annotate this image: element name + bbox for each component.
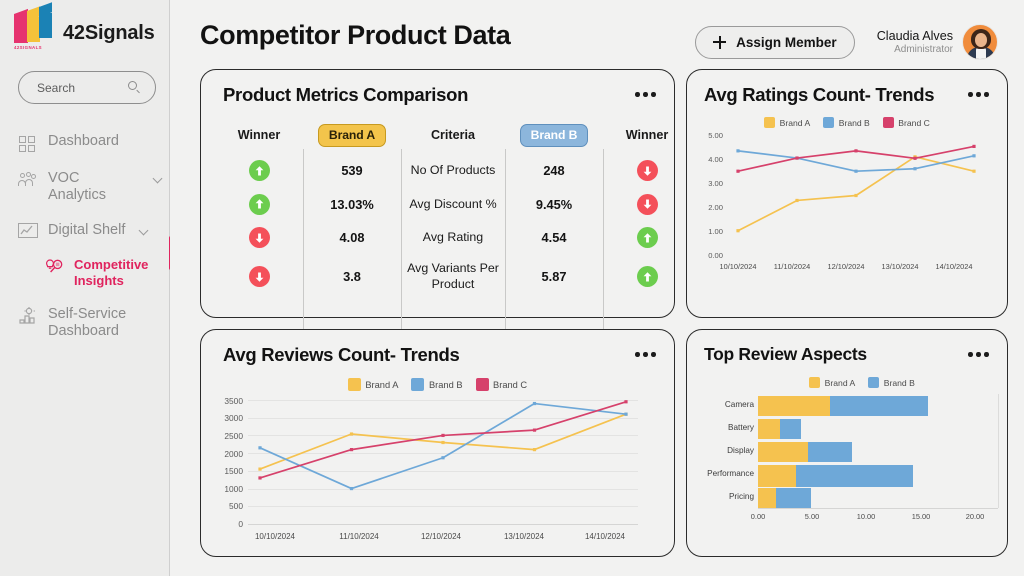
- app-root: 42SIGNALS 42Signals Search Dashboard VOC…: [0, 0, 1024, 576]
- x-tick: 0.00: [737, 512, 779, 521]
- legend-item: Brand A: [348, 378, 399, 391]
- people-icon: [18, 171, 38, 189]
- y-tick: 3000: [215, 413, 243, 423]
- user-name: Claudia Alves: [877, 29, 953, 43]
- more-options-icon[interactable]: [635, 344, 656, 357]
- x-tick: 14/10/2024: [565, 532, 645, 541]
- user-role: Administrator: [877, 44, 953, 55]
- metrics-table-body: 539 No Of Products 248 13.03% Avg Discou…: [215, 154, 660, 299]
- dashboard-grid: Product Metrics Comparison Winner Brand …: [186, 60, 1008, 557]
- category-label: Battery: [697, 423, 754, 432]
- chart-icon: [18, 223, 38, 238]
- dashboard-gear-icon: [18, 307, 38, 325]
- legend-item: Brand B: [411, 378, 462, 391]
- column-header-criteria: Criteria: [401, 128, 505, 142]
- brand-name: 42Signals: [63, 22, 155, 45]
- brand-b-value: 4.54: [505, 230, 603, 245]
- legend-item: Brand B: [868, 377, 915, 388]
- legend-label: Brand B: [884, 378, 915, 388]
- chart-legend-reviews: Brand A Brand B Brand C: [201, 378, 674, 391]
- chevron-down-icon[interactable]: [139, 226, 149, 236]
- y-tick: 2.00: [697, 203, 723, 212]
- user-profile[interactable]: Claudia Alves Administrator: [877, 24, 998, 60]
- brand-b-value: 248: [505, 163, 603, 178]
- category-label: Pricing: [697, 492, 754, 501]
- legend-swatch: [809, 377, 820, 388]
- x-tick: 10/10/2024: [709, 262, 767, 271]
- legend-swatch: [868, 377, 879, 388]
- card-title: Avg Reviews Count- Trends: [223, 344, 459, 366]
- main-content: Competitor Product Data Assign Member Cl…: [170, 0, 1024, 576]
- bar-segment: [796, 465, 912, 487]
- x-tick: 15.00: [900, 512, 942, 521]
- legend-label: Brand C: [493, 380, 527, 390]
- legend-item: Brand A: [764, 117, 810, 128]
- criteria-label: Avg Variants Per Product: [401, 261, 505, 292]
- y-tick: 3500: [215, 396, 243, 406]
- x-tick: 20.00: [954, 512, 996, 521]
- chart-legend-aspects: Brand A Brand B: [687, 377, 1007, 388]
- sidebar-item-label: VOC Analytics: [48, 170, 139, 204]
- winner-down-icon: [637, 160, 658, 181]
- bar-segment: [758, 442, 808, 462]
- legend-item: Brand A: [809, 377, 855, 388]
- card-top-review-aspects: Top Review Aspects Brand A Brand B Camer…: [686, 329, 1008, 557]
- x-tick: 11/10/2024: [763, 262, 821, 271]
- brand-logo[interactable]: 42SIGNALS 42Signals: [0, 0, 169, 55]
- lightbulb-magnifier-icon: [44, 258, 64, 276]
- top-bar-actions: Assign Member Claudia Alves Administrato…: [695, 20, 998, 60]
- column-header-winner-right: Winner: [603, 128, 691, 142]
- bar-segment: [758, 488, 776, 508]
- sidebar-item-label: Digital Shelf: [48, 222, 125, 239]
- table-row: 3.8 Avg Variants Per Product 5.87: [215, 255, 660, 299]
- legend-item: Brand B: [823, 117, 870, 128]
- top-bar: Competitor Product Data Assign Member Cl…: [186, 0, 1008, 60]
- sidebar-item-label: Dashboard: [48, 133, 119, 150]
- chart-plot-reviews: 3500 3000 2500 2000 1500 1000 500 0: [215, 400, 656, 526]
- legend-swatch: [348, 378, 361, 391]
- more-options-icon[interactable]: [635, 84, 656, 97]
- brand-a-value: 4.08: [303, 230, 401, 245]
- sidebar-item-voc-analytics[interactable]: VOC Analytics: [0, 161, 169, 213]
- logo-caption: 42SIGNALS: [14, 45, 42, 50]
- x-tick: 14/10/2024: [925, 262, 983, 271]
- bar-segment: [758, 419, 780, 439]
- y-tick: 5.00: [697, 131, 723, 140]
- x-tick: 12/10/2024: [401, 532, 481, 541]
- criteria-label: Avg Rating: [401, 230, 505, 246]
- search-icon: [128, 81, 141, 94]
- category-label: Camera: [697, 400, 754, 409]
- legend-label: Brand A: [365, 380, 398, 390]
- sidebar-item-dashboard[interactable]: Dashboard: [0, 124, 169, 161]
- bar-segment: [776, 488, 811, 508]
- card-avg-ratings-count-trends: Avg Ratings Count- Trends Brand A Brand …: [686, 69, 1008, 318]
- winner-down-icon: [249, 266, 270, 287]
- search-input[interactable]: Search: [18, 71, 156, 104]
- bar-segment: [830, 396, 928, 416]
- logo-icon: 42SIGNALS: [12, 11, 54, 55]
- x-tick: 11/10/2024: [319, 532, 399, 541]
- winner-up-icon: [637, 227, 658, 248]
- card-avg-reviews-count-trends: Avg Reviews Count- Trends Brand A Brand …: [200, 329, 675, 557]
- sidebar-item-digital-shelf[interactable]: Digital Shelf: [0, 213, 169, 248]
- assign-member-label: Assign Member: [736, 35, 837, 50]
- winner-up-icon: [249, 160, 270, 181]
- legend-swatch: [823, 117, 834, 128]
- plus-icon: [713, 36, 726, 49]
- card-title: Top Review Aspects: [704, 344, 867, 365]
- legend-label: Brand B: [839, 118, 870, 128]
- y-tick: 1000: [215, 484, 243, 494]
- legend-swatch: [476, 378, 489, 391]
- card-title: Avg Ratings Count- Trends: [704, 84, 934, 106]
- search-placeholder: Search: [37, 81, 75, 95]
- y-tick: 1500: [215, 466, 243, 476]
- winner-up-icon: [249, 194, 270, 215]
- sidebar: 42SIGNALS 42Signals Search Dashboard VOC…: [0, 0, 170, 576]
- winner-down-icon: [637, 194, 658, 215]
- criteria-label: Avg Discount %: [401, 197, 505, 213]
- sidebar-item-label: Competitive Insights: [74, 257, 161, 288]
- bar-segment: [758, 465, 796, 487]
- brand-a-value: 3.8: [303, 269, 401, 284]
- sidebar-item-label: Self-Service Dashboard: [48, 306, 161, 340]
- legend-swatch: [883, 117, 894, 128]
- category-label: Display: [697, 446, 754, 455]
- winner-down-icon: [249, 227, 270, 248]
- x-tick: 10/10/2024: [235, 532, 315, 541]
- sidebar-nav: Dashboard VOC Analytics Digital Shelf: [0, 124, 169, 349]
- brand-b-value: 9.45%: [505, 197, 603, 212]
- y-tick: 2500: [215, 431, 243, 441]
- brand-b-badge[interactable]: Brand B: [520, 124, 589, 147]
- brand-a-value: 13.03%: [303, 197, 401, 212]
- chart-legend-ratings: Brand A Brand B Brand C: [687, 117, 1007, 128]
- chart-plot-aspects: Camera Battery Display Performance Prici…: [697, 394, 995, 522]
- legend-label: Brand B: [429, 380, 463, 390]
- x-tick: 12/10/2024: [817, 262, 875, 271]
- x-tick: 13/10/2024: [871, 262, 929, 271]
- y-tick: 1.00: [697, 227, 723, 236]
- chevron-down-icon[interactable]: [153, 174, 163, 184]
- assign-member-button[interactable]: Assign Member: [695, 26, 855, 59]
- x-tick: 5.00: [791, 512, 833, 521]
- bar-segment: [808, 442, 851, 462]
- card-product-metrics-comparison: Product Metrics Comparison Winner Brand …: [200, 69, 675, 318]
- legend-swatch: [764, 117, 775, 128]
- legend-label: Brand A: [825, 378, 856, 388]
- y-tick: 3.00: [697, 179, 723, 188]
- bar-segment: [758, 396, 830, 416]
- legend-label: Brand A: [780, 118, 811, 128]
- y-tick: 4.00: [697, 155, 723, 164]
- x-tick: 10.00: [845, 512, 887, 521]
- y-tick: 0: [215, 519, 243, 529]
- criteria-label: No Of Products: [401, 163, 505, 179]
- category-label: Performance: [697, 469, 754, 478]
- chart-plot-ratings: 5.00 4.00 3.00 2.00 1.00 0.00 10/10/2024…: [697, 136, 993, 266]
- bar-segment: [780, 419, 802, 439]
- brand-a-badge[interactable]: Brand A: [318, 124, 386, 147]
- legend-item: Brand C: [476, 378, 528, 391]
- sidebar-item-self-service-dashboard[interactable]: Self-Service Dashboard: [0, 297, 169, 349]
- sidebar-item-competitive-insights[interactable]: Competitive Insights: [0, 248, 169, 297]
- y-tick: 0.00: [697, 251, 723, 260]
- table-row: 13.03% Avg Discount % 9.45%: [215, 188, 660, 222]
- x-tick: 13/10/2024: [484, 532, 564, 541]
- column-header-winner-left: Winner: [215, 128, 303, 142]
- winner-up-icon: [637, 266, 658, 287]
- brand-b-value: 5.87: [505, 269, 603, 284]
- legend-item: Brand C: [883, 117, 930, 128]
- card-title: Product Metrics Comparison: [223, 84, 468, 106]
- table-row: 539 No Of Products 248: [215, 154, 660, 188]
- legend-swatch: [411, 378, 424, 391]
- grid-icon: [18, 134, 38, 152]
- page-title: Competitor Product Data: [200, 20, 510, 51]
- y-tick: 2000: [215, 449, 243, 459]
- legend-label: Brand C: [898, 118, 930, 128]
- avatar[interactable]: [962, 24, 998, 60]
- more-options-icon[interactable]: [968, 344, 989, 357]
- y-tick: 500: [215, 501, 243, 511]
- metrics-table-header: Winner Brand A Criteria Brand B Winner: [215, 116, 660, 154]
- brand-a-value: 539: [303, 163, 401, 178]
- more-options-icon[interactable]: [968, 84, 989, 97]
- metrics-table: Winner Brand A Criteria Brand B Winner 5…: [201, 106, 674, 299]
- table-row: 4.08 Avg Rating 4.54: [215, 221, 660, 255]
